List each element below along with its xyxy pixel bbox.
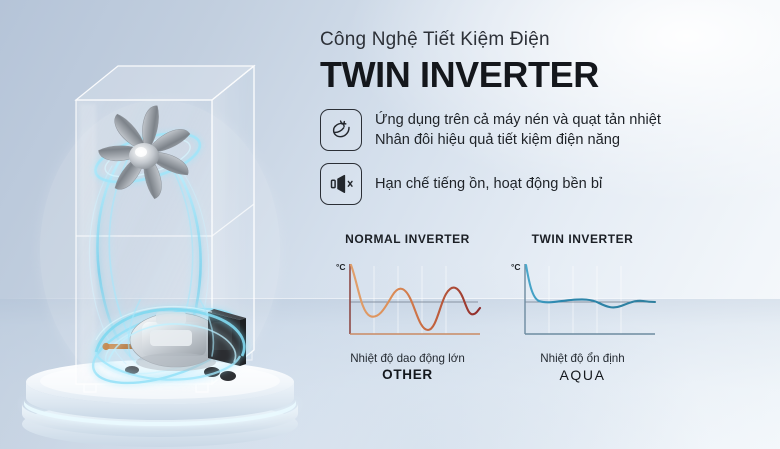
glass-highlight [80, 104, 96, 380]
speaker-mute-icon [320, 163, 362, 205]
mount-foot [220, 371, 236, 381]
chart-caption-twin: Nhiệt độ ổn định [495, 352, 670, 365]
chart-line-normal [351, 265, 480, 330]
feature-row-noise: Hạn chế tiếng ồn, hoạt động bền bỉ [320, 163, 772, 205]
promo-banner: Công Nghệ Tiết Kiệm Điện TWIN INVERTER Ứ… [0, 0, 780, 449]
chart-twin-inverter: TWIN INVERTER [495, 232, 670, 383]
feature-row-energy: Ứng dụng trên cả máy nén và quạt tản nhi… [320, 109, 772, 151]
feature-text-noise: Hạn chế tiếng ồn, hoạt động bền bỉ [375, 174, 602, 195]
comparison-charts: NORMAL INVERTER [320, 232, 670, 383]
chart-caption-normal: Nhiệt độ dao động lớn [320, 352, 495, 365]
chart-normal-inverter: NORMAL INVERTER [320, 232, 495, 383]
chart-title-normal: NORMAL INVERTER [320, 232, 495, 246]
chart-brand-other: OTHER [320, 367, 495, 382]
chart-line-twin [526, 265, 655, 307]
content-column: Công Nghệ Tiết Kiệm Điện TWIN INVERTER Ứ… [312, 28, 772, 217]
product-scene [0, 0, 320, 449]
page-title: TWIN INVERTER [320, 56, 772, 94]
chart-svg-twin: °C [503, 256, 663, 348]
chart-title-twin: TWIN INVERTER [495, 232, 670, 246]
chart-unit-twin: °C [511, 262, 521, 272]
chart-brand-aqua: AQUA [495, 367, 670, 383]
eco-plug-leaf-icon [320, 109, 362, 151]
feature-text-energy: Ứng dụng trên cả máy nén và quạt tản nhi… [375, 110, 661, 151]
chart-unit-normal: °C [336, 262, 346, 272]
page-kicker: Công Nghệ Tiết Kiệm Điện [320, 28, 772, 53]
chart-svg-normal: °C [328, 256, 488, 348]
